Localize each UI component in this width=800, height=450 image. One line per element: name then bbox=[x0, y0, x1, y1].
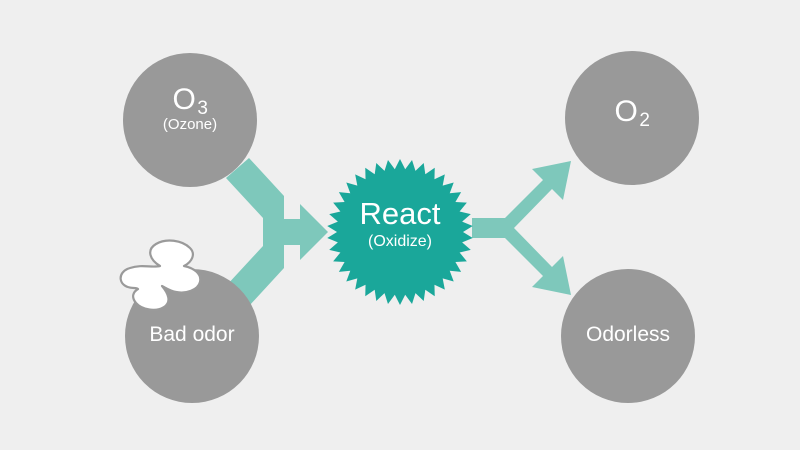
burst-shape bbox=[327, 159, 473, 305]
output-node-odorless-circle[interactable] bbox=[561, 269, 695, 403]
merge-arrow-shape bbox=[226, 158, 328, 306]
split-arrow-right bbox=[472, 161, 571, 295]
split-arrow-shape bbox=[472, 161, 571, 295]
reaction-diagram: O3 (Ozone) Bad odor O2 Odorless React (O… bbox=[0, 0, 800, 450]
process-node-react-burst[interactable] bbox=[327, 159, 473, 305]
input-node-ozone-circle[interactable] bbox=[123, 53, 257, 187]
output-node-o2-circle[interactable] bbox=[565, 51, 699, 185]
merge-arrow-left bbox=[226, 158, 328, 306]
diagram-canvas bbox=[0, 0, 800, 450]
